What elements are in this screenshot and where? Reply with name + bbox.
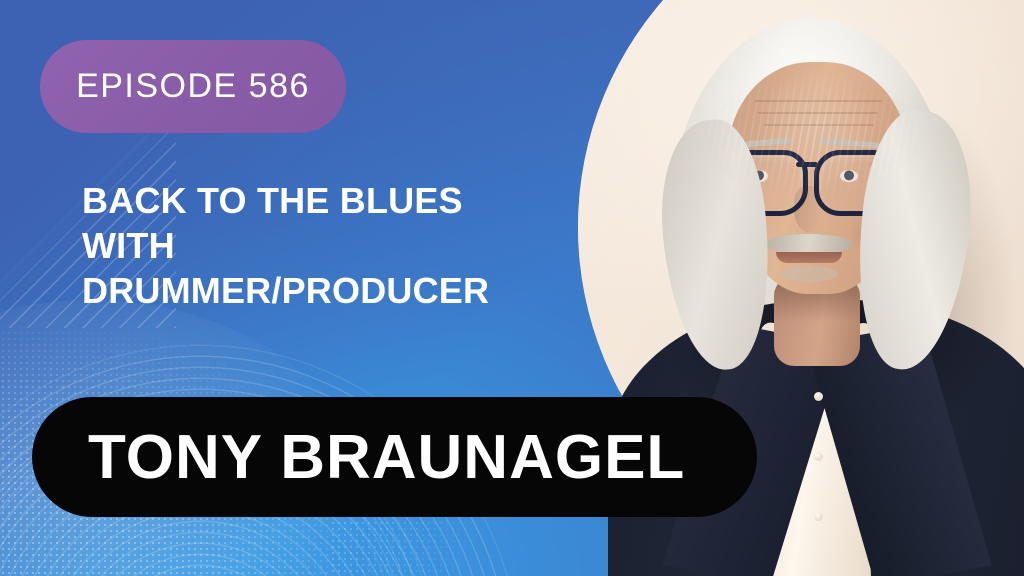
episode-title-line-1: BACK TO THE BLUES <box>82 178 602 223</box>
episode-title: BACK TO THE BLUES WITH DRUMMER/PRODUCER <box>82 178 602 313</box>
halftone-dots-strip-decoration <box>330 520 530 576</box>
guest-name-label: TONY BRAUNAGEL <box>32 422 685 493</box>
episode-title-line-3: DRUMMER/PRODUCER <box>82 268 602 313</box>
episode-number-badge: EPISODE 586 <box>40 40 346 133</box>
episode-cover-graphic: EPISODE 586 BACK TO THE BLUES WITH DRUMM… <box>0 0 1024 576</box>
episode-number-label: EPISODE 586 <box>76 67 310 106</box>
episode-title-line-2: WITH <box>82 223 602 268</box>
portrait-hair-texture <box>678 60 948 240</box>
guest-name-banner: TONY BRAUNAGEL <box>32 397 757 517</box>
portrait-shirt-button <box>814 452 823 461</box>
portrait-chin-beard <box>780 266 838 282</box>
portrait-shirt-button <box>814 512 823 521</box>
portrait-shirt-button <box>814 392 823 401</box>
portrait-mouth <box>776 252 842 263</box>
